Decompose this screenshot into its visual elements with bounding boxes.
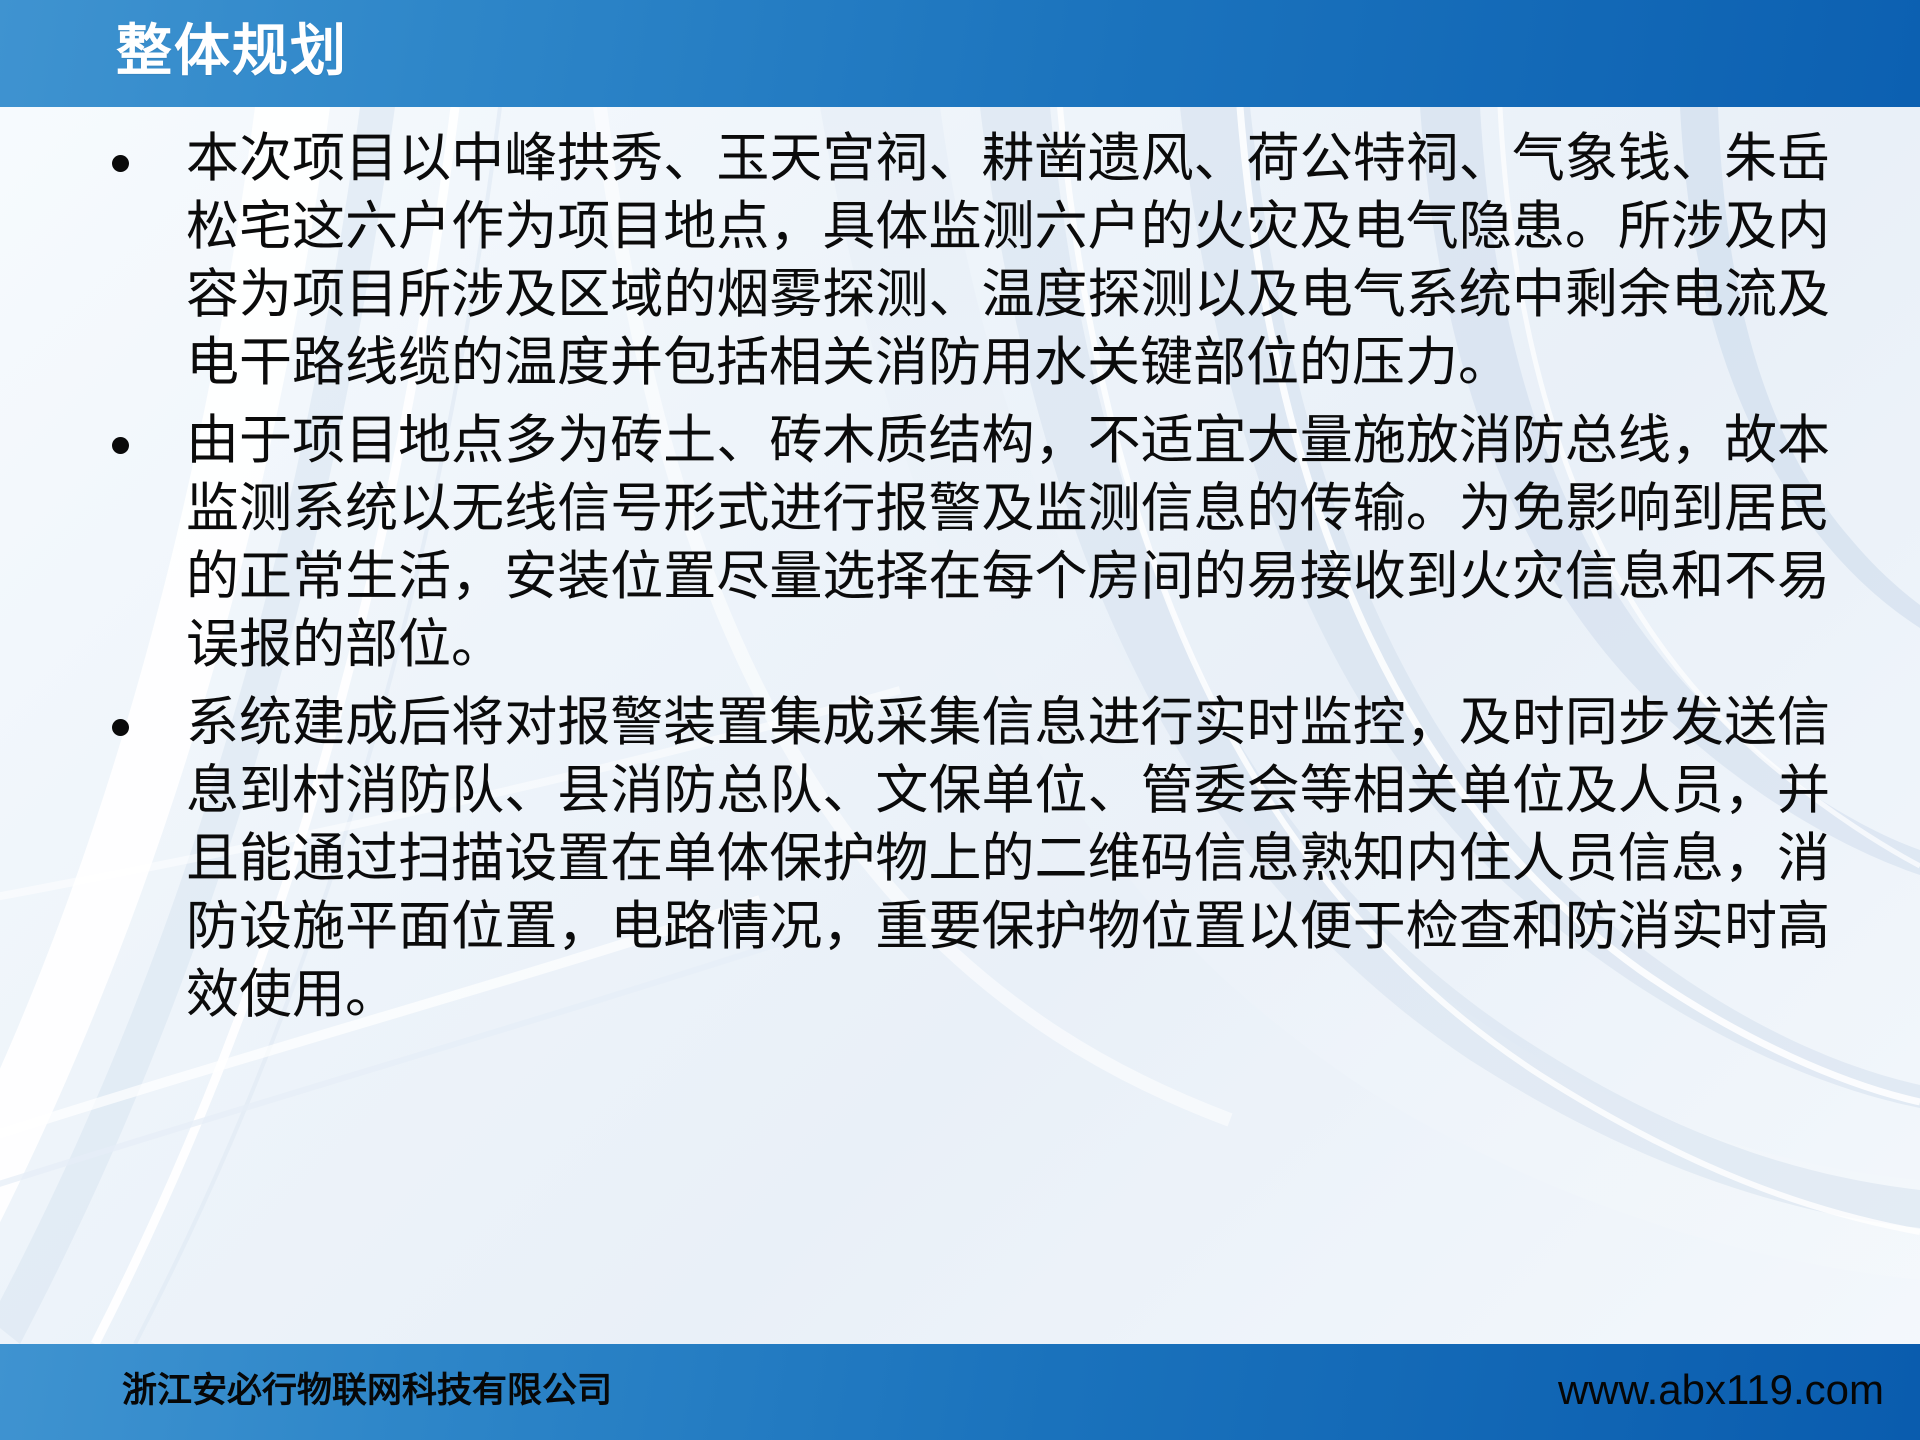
slide-header-bar: 整体规划: [0, 0, 1920, 107]
footer-company-name: 浙江安必行物联网科技有限公司: [122, 1364, 612, 1418]
list-item-text: 系统建成后将对报警装置集成采集信息进行实时监控，及时同步发送信息到村消防队、县消…: [186, 689, 1830, 1029]
list-item: 由于项目地点多为砖土、砖木质结构，不适宜大量施放消防总线，故本监测系统以无线信号…: [100, 407, 1830, 679]
slide-content: 本次项目以中峰拱秀、玉天宫祠、耕凿遗风、荷公特祠、气象钱、朱岳松宅这六户作为项目…: [0, 107, 1920, 1344]
page-title: 整体规划: [116, 14, 348, 90]
footer-website-url[interactable]: www.abx119.com: [1558, 1362, 1884, 1418]
list-item-text: 本次项目以中峰拱秀、玉天宫祠、耕凿遗风、荷公特祠、气象钱、朱岳松宅这六户作为项目…: [186, 125, 1830, 397]
slide-footer-bar: 浙江安必行物联网科技有限公司 www.abx119.com: [0, 1344, 1920, 1440]
bullet-dot-icon: [112, 437, 129, 454]
bullet-list: 本次项目以中峰拱秀、玉天宫祠、耕凿遗风、荷公特祠、气象钱、朱岳松宅这六户作为项目…: [100, 125, 1830, 1039]
bullet-dot-icon: [112, 719, 129, 736]
list-item: 系统建成后将对报警装置集成采集信息进行实时监控，及时同步发送信息到村消防队、县消…: [100, 689, 1830, 1029]
bullet-dot-icon: [112, 155, 129, 172]
list-item: 本次项目以中峰拱秀、玉天宫祠、耕凿遗风、荷公特祠、气象钱、朱岳松宅这六户作为项目…: [100, 125, 1830, 397]
slide: 整体规划 本次项目以中峰拱秀、玉天宫祠、耕凿遗风、荷公特祠、气象钱、朱岳松宅这六…: [0, 0, 1920, 1440]
list-item-text: 由于项目地点多为砖土、砖木质结构，不适宜大量施放消防总线，故本监测系统以无线信号…: [186, 407, 1830, 679]
